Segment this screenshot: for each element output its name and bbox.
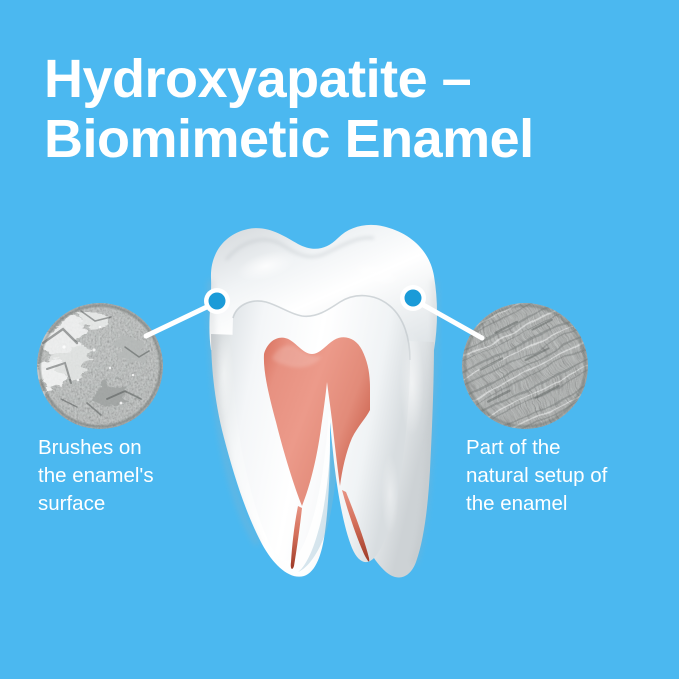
caption-left-line-1: Brushes on [38,434,238,462]
page-title: Hydroxyapatite – Biomimetic Enamel [44,49,644,169]
caption-left-line-2: the enamel's [38,462,238,490]
hydroxyapatite-infographic: Hydroxyapatite – Biomimetic Enamel [0,0,679,679]
title-line-2: Biomimetic Enamel [44,109,644,169]
title-line-1: Hydroxyapatite – [44,49,644,109]
sem-crystalline-surface-image [37,303,163,429]
caption-right-line-1: Part of the [466,434,676,462]
caption-right-line-3: the enamel [466,490,676,518]
tooth-cross-section-illustration [180,214,500,604]
caption-right-line-2: natural setup of [466,462,676,490]
caption-right: Part of the natural setup of the enamel [466,434,676,518]
caption-left-line-3: surface [38,490,238,518]
caption-left: Brushes on the enamel's surface [38,434,238,518]
